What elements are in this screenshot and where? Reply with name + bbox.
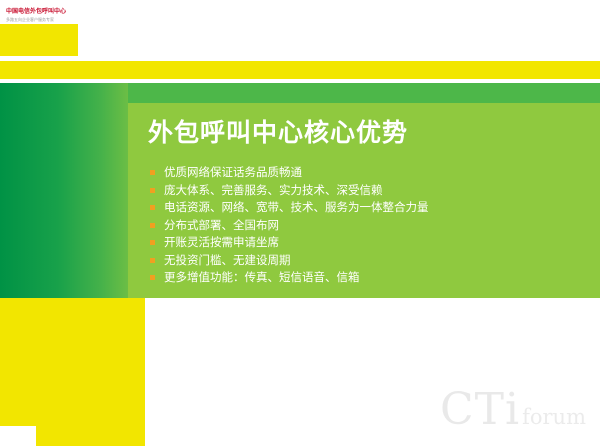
list-item: 分布式部署、全国布网	[148, 217, 578, 235]
list-item: 更多增值功能：传真、短信语音、信箱	[148, 269, 578, 287]
background-block-green-left-gradient	[0, 83, 128, 298]
slide-canvas: 中国电信外包呼叫中心 多路五向企业客户服务专家 外包呼叫中心核心优势 优质网络保…	[0, 0, 600, 446]
slide-title: 外包呼叫中心核心优势	[148, 118, 578, 148]
list-item: 无投资门槛、无建设周期	[148, 252, 578, 270]
bullet-square-icon	[150, 188, 155, 193]
background-block-white-notch	[0, 426, 36, 446]
list-item: 优质网络保证话务品质畅通	[148, 164, 578, 182]
list-item-label: 开账灵活按需申请坐席	[164, 235, 279, 249]
bullet-square-icon	[150, 170, 155, 175]
list-item-label: 分布式部署、全国布网	[164, 218, 279, 232]
bullet-square-icon	[150, 205, 155, 210]
company-logo: 中国电信外包呼叫中心 多路五向企业客户服务专家	[6, 8, 78, 23]
logo-tagline: 多路五向企业客户服务专家	[6, 17, 78, 23]
list-item-label: 更多增值功能：传真、短信语音、信箱	[164, 270, 360, 284]
background-block-yellow-top-band	[0, 61, 600, 79]
bullet-square-icon	[150, 223, 155, 228]
bullet-square-icon	[150, 240, 155, 245]
watermark-secondary-text: forum	[522, 405, 586, 429]
list-item-label: 优质网络保证话务品质畅通	[164, 165, 302, 179]
list-item: 电话资源、网络、宽带、技术、服务为一体整合力量	[148, 199, 578, 217]
slide-content: 外包呼叫中心核心优势 优质网络保证话务品质畅通 庞大体系、完善服务、实力技术、深…	[148, 118, 578, 287]
list-item-label: 无投资门槛、无建设周期	[164, 253, 291, 267]
list-item-label: 庞大体系、完善服务、实力技术、深受信赖	[164, 183, 383, 197]
list-item: 开账灵活按需申请坐席	[148, 234, 578, 252]
bullet-square-icon	[150, 275, 155, 280]
bullet-list: 优质网络保证话务品质畅通 庞大体系、完善服务、实力技术、深受信赖 电话资源、网络…	[148, 164, 578, 287]
logo-company-name: 中国电信外包呼叫中心	[6, 8, 78, 16]
watermark-primary-text: CTi	[440, 388, 520, 432]
background-block-yellow-bottom	[0, 298, 145, 446]
bullet-square-icon	[150, 258, 155, 263]
background-block-topleft-gap	[0, 56, 78, 61]
background-block-white-gap	[0, 79, 600, 83]
list-item: 庞大体系、完善服务、实力技术、深受信赖	[148, 182, 578, 200]
list-item-label: 电话资源、网络、宽带、技术、服务为一体整合力量	[164, 200, 429, 214]
watermark: CTi forum	[440, 388, 586, 432]
